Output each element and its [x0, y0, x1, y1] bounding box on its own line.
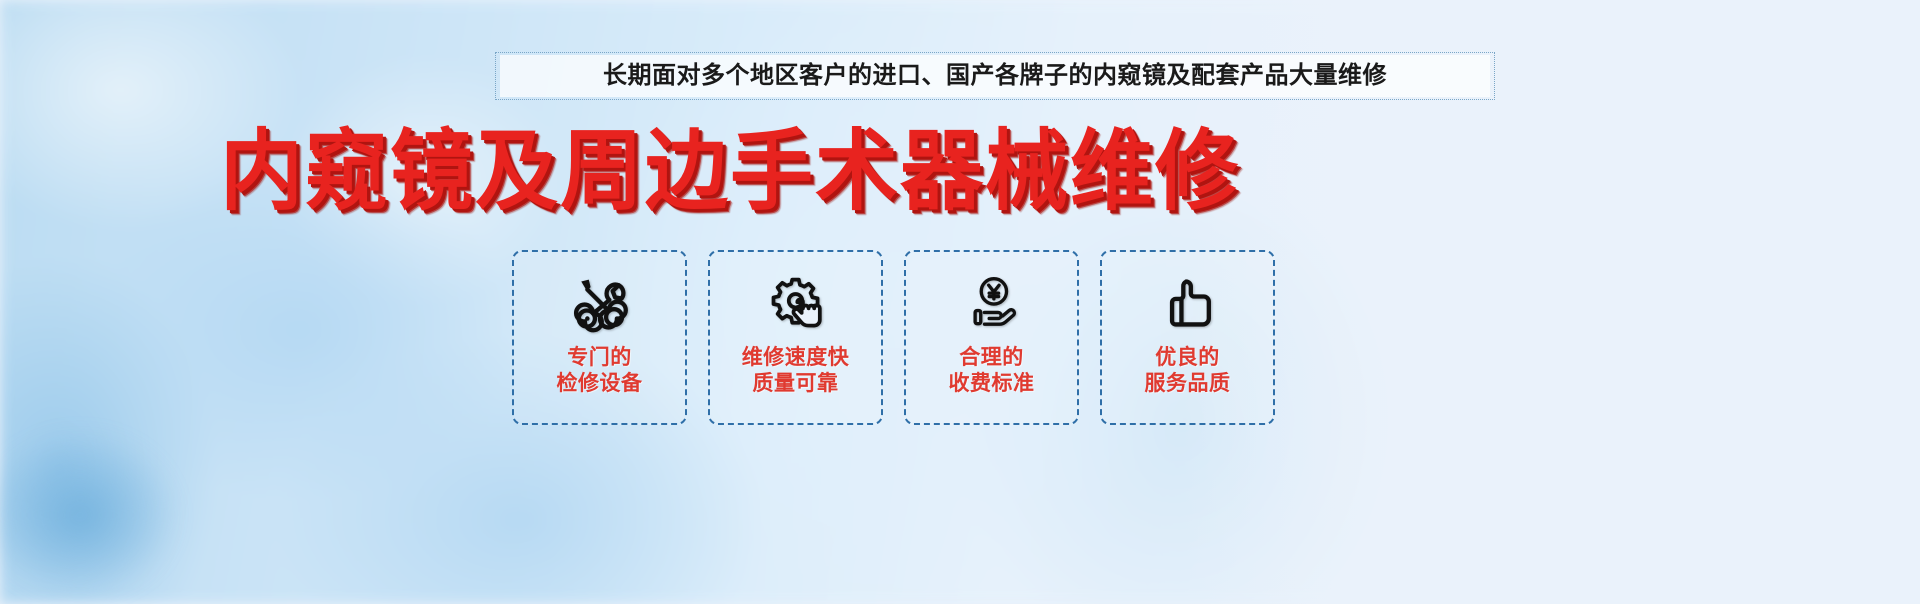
feature-card-pricing[interactable]: 合理的 收费标准	[904, 250, 1079, 425]
feature-label-line2: 服务品质	[1145, 371, 1231, 397]
feature-label-line1: 维修速度快	[742, 346, 850, 369]
gear-hand-click-icon	[762, 272, 830, 336]
feature-label: 专门的 检修设备	[557, 345, 643, 396]
tagline-text: 长期面对多个地区客户的进口、国产各牌子的内窥镜及配套产品大量维修	[603, 64, 1387, 88]
feature-label: 优良的 服务品质	[1145, 345, 1231, 396]
banner-content: 长期面对多个地区客户的进口、国产各牌子的内窥镜及配套产品大量维修 内窥镜及周边手…	[0, 0, 1920, 604]
feature-label-line1: 合理的	[959, 346, 1024, 369]
feature-label: 合理的 收费标准	[949, 345, 1035, 396]
headline-row: 内窥镜及周边手术器械维修	[0, 124, 1920, 214]
feature-label-line2: 检修设备	[557, 371, 643, 397]
feature-label-line1: 优良的	[1155, 346, 1220, 369]
screwdriver-wrench-icon	[566, 272, 634, 336]
feature-card-service[interactable]: 优良的 服务品质	[1100, 250, 1275, 425]
tagline-frame: 长期面对多个地区客户的进口、国产各牌子的内窥镜及配套产品大量维修	[495, 52, 1495, 100]
feature-label-line1: 专门的	[567, 346, 632, 369]
feature-card-equipment[interactable]: 专门的 检修设备	[512, 250, 687, 425]
feature-card-speed[interactable]: 维修速度快 质量可靠	[708, 250, 883, 425]
thumbs-up-icon	[1154, 272, 1222, 336]
promo-banner: 长期面对多个地区客户的进口、国产各牌子的内窥镜及配套产品大量维修 内窥镜及周边手…	[0, 0, 1920, 604]
feature-label-line2: 收费标准	[949, 371, 1035, 397]
feature-label: 维修速度快 质量可靠	[742, 345, 850, 396]
feature-label-line2: 质量可靠	[742, 371, 850, 397]
page-title: 内窥镜及周边手术器械维修	[220, 124, 1240, 219]
feature-list: 专门的 检修设备 维修速度快 质量可靠	[512, 250, 1275, 425]
hand-yen-coin-icon	[958, 272, 1026, 336]
tagline-panel: 长期面对多个地区客户的进口、国产各牌子的内窥镜及配套产品大量维修	[500, 55, 1490, 97]
